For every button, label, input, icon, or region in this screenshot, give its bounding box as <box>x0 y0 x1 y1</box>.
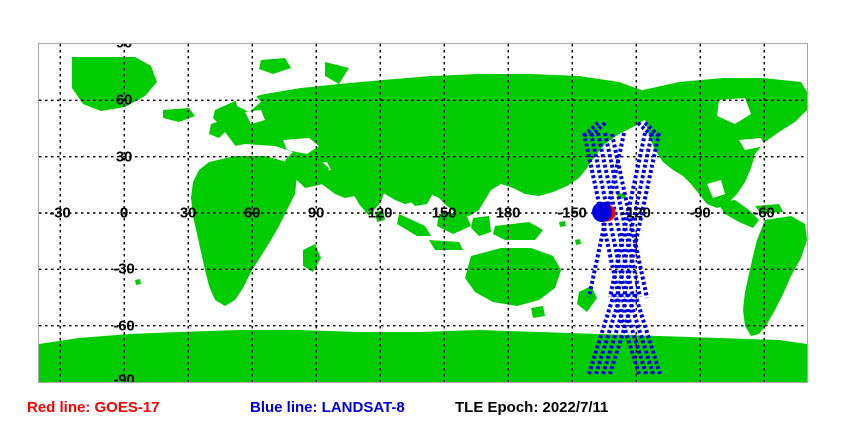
legend-tle-epoch: TLE Epoch: 2022/7/11 <box>455 395 608 421</box>
legend-red-line-goes17: Red line: GOES-17 <box>27 395 160 421</box>
lon-tick-150: 150 <box>432 206 456 221</box>
lat-tick-60: 60 <box>116 93 132 108</box>
landsat8-position-marker <box>592 202 612 222</box>
lon-tick-180: 180 <box>496 206 520 221</box>
satellite-ground-track-map: 90 60 30 0 -30 -60 -90 -30 0 30 60 90 12… <box>0 0 850 425</box>
lon-tick--30: -30 <box>49 206 70 221</box>
lon-tick-0: 0 <box>120 206 128 221</box>
lon-tick-60: 60 <box>244 206 260 221</box>
lon-tick--120: -120 <box>621 206 650 221</box>
lat-tick-30: 30 <box>116 150 132 165</box>
lon-tick--150: -150 <box>557 206 586 221</box>
lon-tick-90: 90 <box>308 206 324 221</box>
lon-tick--60: -60 <box>753 206 774 221</box>
world-map-plot: 90 60 30 0 -30 -60 -90 -30 0 30 60 90 12… <box>38 43 808 383</box>
lat-tick--30: -30 <box>113 262 134 277</box>
lat-tick--90: -90 <box>113 373 134 384</box>
legend: Red line: GOES-17 Blue line: LANDSAT-8 T… <box>0 395 850 421</box>
lon-tick-120: 120 <box>368 206 392 221</box>
lat-tick-90: 90 <box>116 43 132 51</box>
landsat8-ground-tracks <box>584 122 660 374</box>
lat-tick--60: -60 <box>113 319 134 334</box>
legend-blue-line-landsat8: Blue line: LANDSAT-8 <box>250 395 405 421</box>
lon-tick-30: 30 <box>180 206 196 221</box>
lon-tick--90: -90 <box>689 206 710 221</box>
